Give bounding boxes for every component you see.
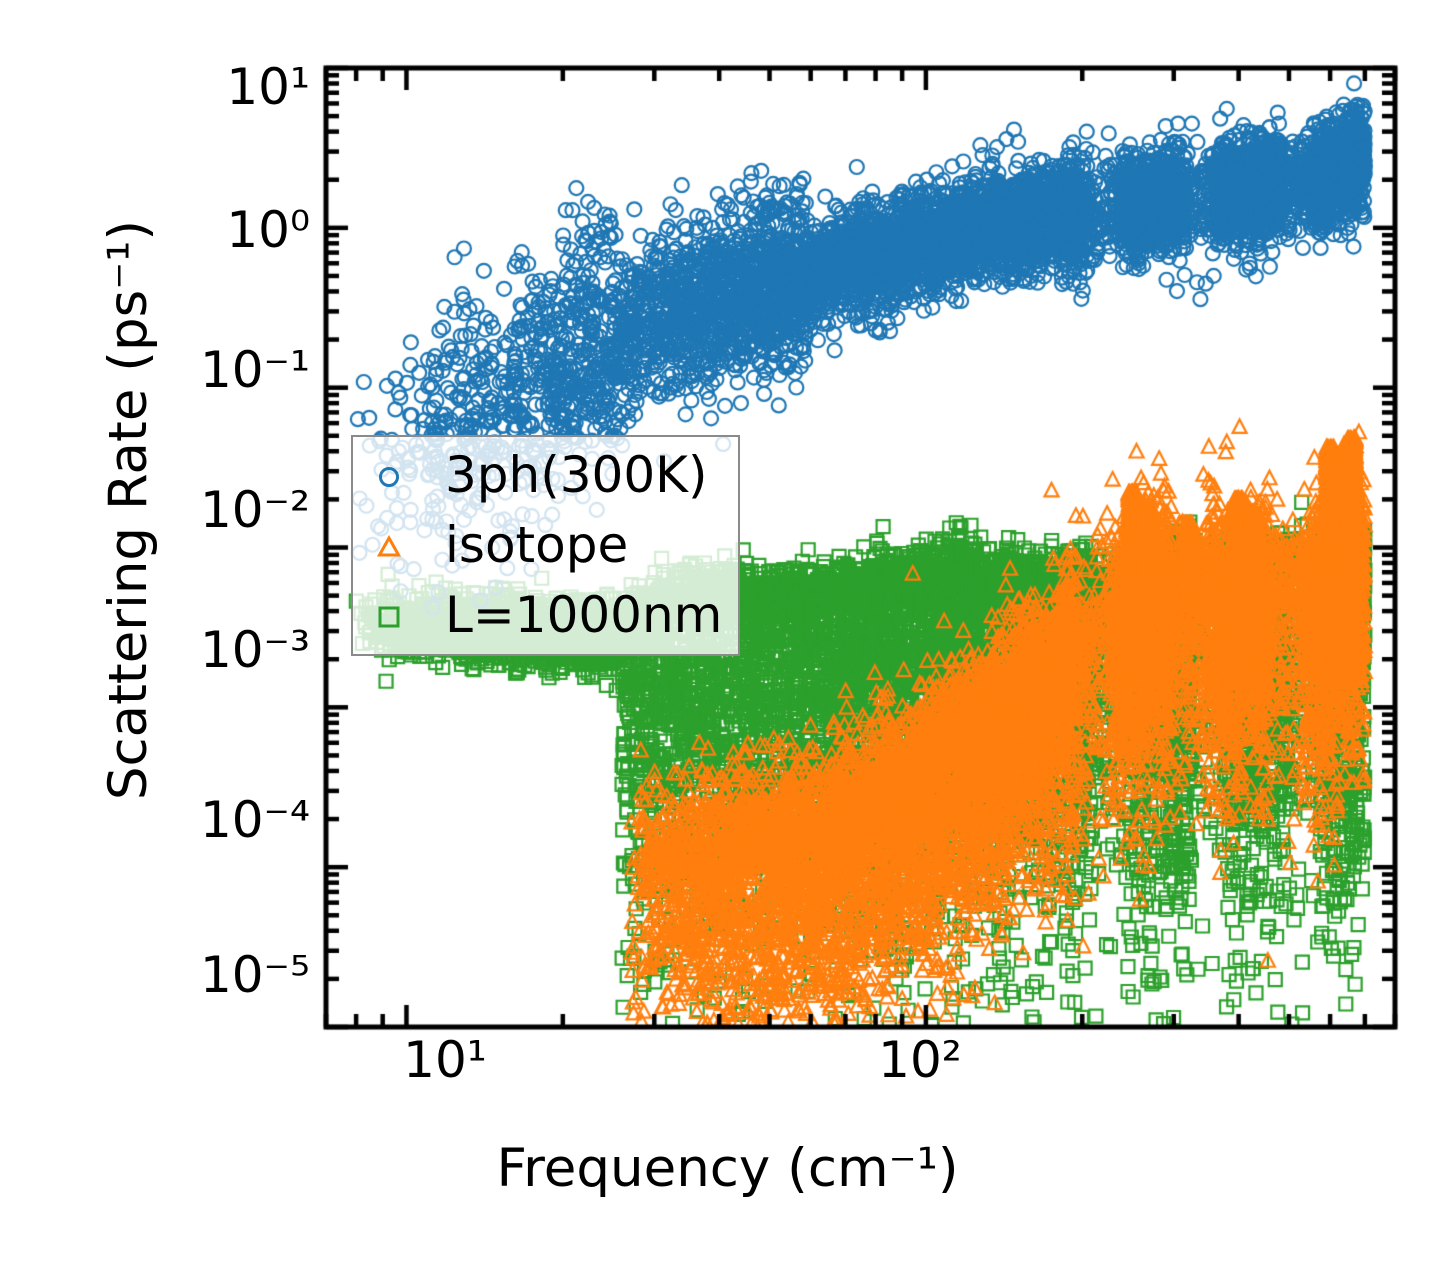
ytick-label-1e1: 10¹ — [120, 62, 310, 112]
legend-label-3ph: 3ph(300K) — [445, 447, 707, 505]
circle-marker-icon — [377, 465, 401, 489]
legend-entry-isotope[interactable]: isotope — [353, 513, 738, 579]
scatter-plot-figure: 10¹ 10⁰ 10⁻¹ 10⁻² 10⁻³ 10⁻⁴ 10⁻⁵ 10¹ 10²… — [0, 0, 1455, 1275]
y-axis-label-wrapper: Scattering Rate (ps⁻¹) — [102, 110, 162, 910]
legend-label-boundary: L=1000nm — [445, 587, 722, 645]
legend-entry-3ph[interactable]: 3ph(300K) — [353, 443, 738, 509]
legend[interactable]: 3ph(300K) isotope L=1000nm — [351, 435, 740, 656]
legend-label-isotope: isotope — [445, 517, 628, 575]
y-axis-label: Scattering Rate (ps⁻¹) — [102, 110, 155, 910]
ytick-label-1e-5: 10⁻⁵ — [120, 950, 310, 1000]
triangle-marker-icon — [377, 535, 401, 559]
xtick-label-1e1: 10¹ — [345, 1035, 545, 1085]
x-axis-label: Frequency (cm⁻¹) — [0, 1142, 1455, 1195]
xtick-label-1e2: 10² — [820, 1035, 1020, 1085]
legend-entry-boundary[interactable]: L=1000nm — [353, 583, 738, 649]
square-marker-icon — [377, 605, 401, 629]
